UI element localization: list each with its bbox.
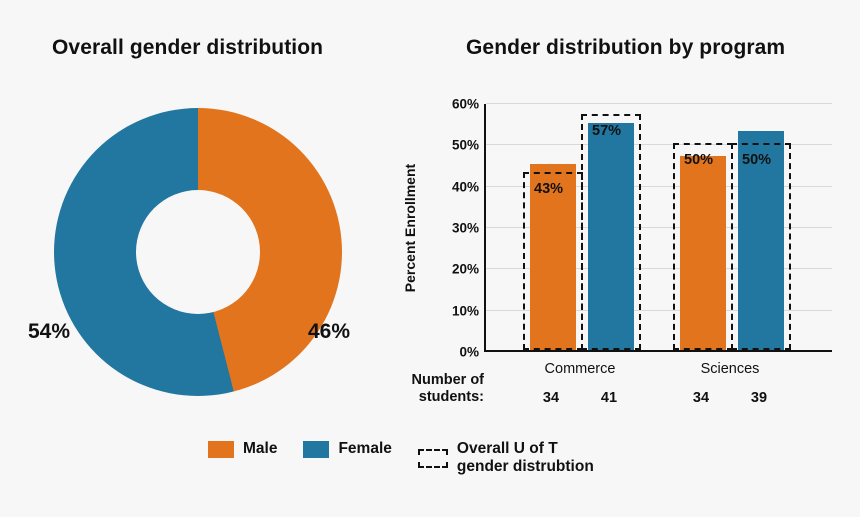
bar-value-label: 50% (742, 152, 771, 168)
legend-item-overall: Overall U of Tgender distrubtion (418, 440, 594, 476)
y-axis-label: Percent Enrollment (402, 164, 418, 292)
student-count: 41 (589, 390, 629, 406)
bar-chart: Percent Enrollment 0%10%20%30%40%50%60%4… (484, 104, 832, 352)
y-tick-label: 50% (452, 138, 479, 153)
legend-item-male: Male (208, 440, 277, 458)
overlay-box-commerce-male (523, 172, 583, 350)
y-tick-label: 60% (452, 97, 479, 112)
legend-item-female: Female (303, 440, 391, 458)
students-label-line: Number of (404, 372, 484, 389)
legend-swatch-female-icon (303, 441, 329, 458)
student-count: 39 (739, 390, 779, 406)
bar-value-label: 50% (684, 152, 713, 168)
overlay-box-sciences-female (731, 143, 791, 350)
legend-label-male: Male (243, 440, 277, 458)
y-tick-label: 30% (452, 221, 479, 236)
donut-value-female: 54% (28, 320, 70, 344)
y-tick-label: 0% (459, 345, 479, 360)
legend: Male Female Overall U of Tgender distrub… (208, 440, 594, 476)
page-title-right: Gender distribution by program (466, 36, 785, 60)
legend-swatch-dashed-icon (418, 449, 448, 468)
y-tick-label: 40% (452, 179, 479, 194)
bar-value-label: 43% (534, 181, 563, 197)
donut-hole (136, 190, 260, 314)
student-count: 34 (531, 390, 571, 406)
bar-value-label: 57% (592, 123, 621, 139)
donut-value-male: 46% (308, 320, 350, 344)
overlay-box-commerce-female (581, 114, 641, 350)
x-tick-commerce: Commerce (520, 361, 640, 377)
legend-swatch-male-icon (208, 441, 234, 458)
page-title-left: Overall gender distribution (52, 36, 323, 60)
legend-label-female: Female (338, 440, 391, 458)
students-label: Number ofstudents: (404, 372, 484, 406)
overlay-box-sciences-male (673, 143, 733, 350)
y-tick-label: 20% (452, 262, 479, 277)
legend-label-overall: Overall U of Tgender distrubtion (457, 440, 594, 476)
x-tick-sciences: Sciences (670, 361, 790, 377)
students-label-line: students: (404, 389, 484, 406)
gridline (486, 103, 832, 104)
y-tick-label: 10% (452, 303, 479, 318)
donut-chart (54, 108, 342, 396)
student-count: 34 (681, 390, 721, 406)
plot-area: 0%10%20%30%40%50%60%43%57%50%50% (484, 104, 832, 352)
chart-canvas: Overall gender distribution Gender distr… (0, 0, 860, 517)
